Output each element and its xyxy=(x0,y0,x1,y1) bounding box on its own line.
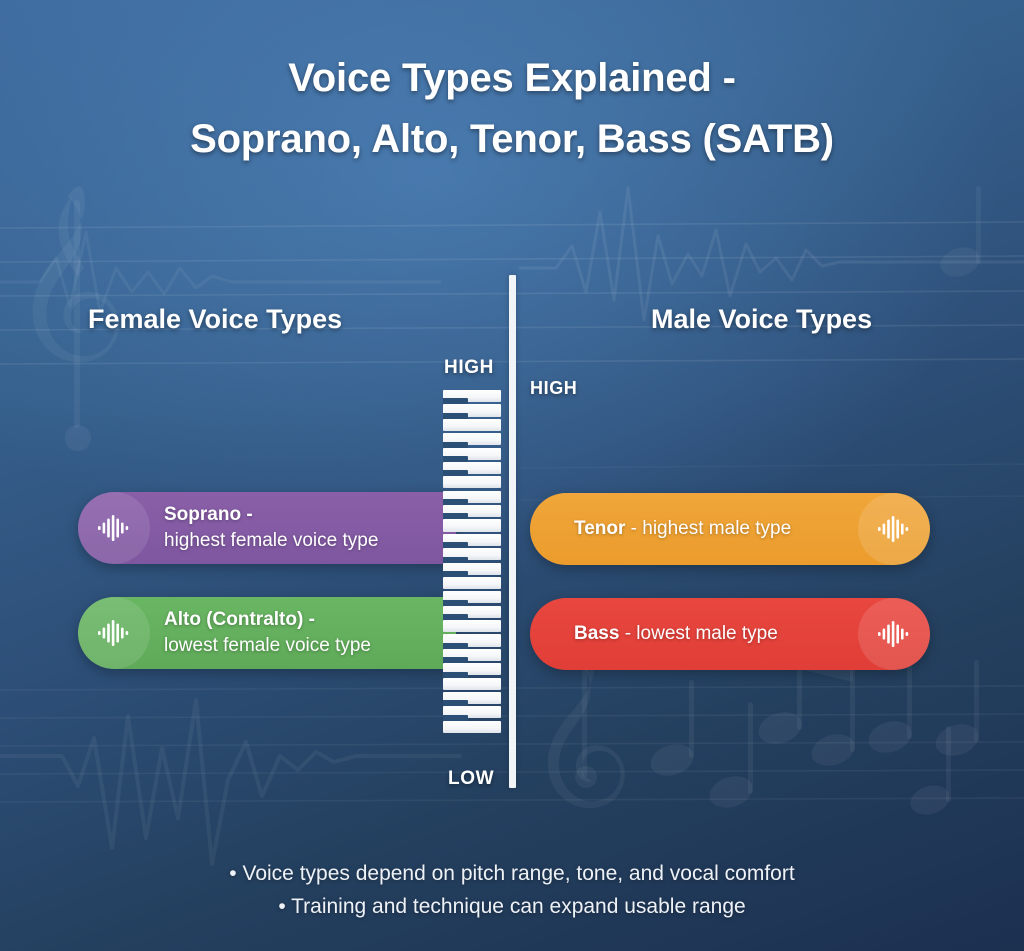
voice-description: lowest female voice type xyxy=(164,633,371,659)
piano-key xyxy=(443,577,501,589)
scale-high-label-right: HIGH xyxy=(530,378,577,399)
waveform-bottom-left xyxy=(0,700,460,864)
pitch-scale-keyboard xyxy=(443,390,501,762)
voice-name: Bass xyxy=(574,623,619,644)
piano-key xyxy=(443,620,501,632)
footer-notes: • Voice types depend on pitch range, ton… xyxy=(0,858,1024,923)
music-notes-bottom-right xyxy=(646,648,982,819)
piano-white-key xyxy=(443,678,501,690)
waveform-top xyxy=(520,188,1024,320)
voice-name: Soprano - xyxy=(164,504,253,525)
page-title: Voice Types Explained - Soprano, Alto, T… xyxy=(0,48,1024,170)
piano-white-key xyxy=(443,620,501,632)
music-notes-top-right xyxy=(937,186,984,281)
piano-key xyxy=(443,448,501,460)
voice-pill-text: Bass - lowest male type xyxy=(530,621,788,647)
piano-key xyxy=(443,404,501,416)
voice-pill-text: Tenor - highest male type xyxy=(530,516,801,542)
piano-key xyxy=(443,505,501,517)
piano-key xyxy=(443,606,501,618)
voice-pill-bass[interactable]: Bass - lowest male type xyxy=(530,598,930,670)
female-column-heading: Female Voice Types xyxy=(88,304,342,335)
piano-key xyxy=(443,678,501,690)
voice-pill-soprano[interactable]: Soprano - highest female voice type xyxy=(78,492,456,564)
piano-key xyxy=(443,519,501,531)
piano-key xyxy=(443,462,501,474)
piano-white-key xyxy=(443,476,501,488)
voice-description: highest female voice type xyxy=(164,528,378,554)
voice-description: - highest male type xyxy=(631,518,792,539)
voice-pill-tenor[interactable]: Tenor - highest male type xyxy=(530,493,930,565)
title-line-1: Voice Types Explained - xyxy=(0,48,1024,109)
piano-key xyxy=(443,548,501,560)
infographic-canvas: Voice Types Explained - Soprano, Alto, T… xyxy=(0,0,1024,951)
waveform-top-secondary xyxy=(0,232,440,312)
waveform-icon xyxy=(858,493,930,565)
piano-key xyxy=(443,563,501,575)
piano-key xyxy=(443,491,501,503)
piano-key xyxy=(443,433,501,445)
piano-key xyxy=(443,663,501,675)
piano-white-key xyxy=(443,577,501,589)
piano-key xyxy=(443,476,501,488)
scale-low-label-left: LOW xyxy=(448,768,494,790)
piano-white-key xyxy=(443,721,501,733)
footer-note-2: • Training and technique can expand usab… xyxy=(0,891,1024,924)
piano-white-key xyxy=(443,519,501,531)
footer-note-1: • Voice types depend on pitch range, ton… xyxy=(0,858,1024,891)
piano-key xyxy=(443,419,501,431)
title-line-2: Soprano, Alto, Tenor, Bass (SATB) xyxy=(0,109,1024,170)
scale-high-label-left: HIGH xyxy=(444,357,494,379)
piano-key xyxy=(443,706,501,718)
voice-pill-text: Alto (Contralto) - lowest female voice t… xyxy=(150,607,381,659)
voice-pill-text: Soprano - highest female voice type xyxy=(150,502,388,554)
male-column-heading: Male Voice Types xyxy=(651,304,872,335)
piano-key xyxy=(443,390,501,402)
voice-pill-alto[interactable]: Alto (Contralto) - lowest female voice t… xyxy=(78,597,456,669)
piano-white-key xyxy=(443,419,501,431)
waveform-icon xyxy=(78,492,150,564)
voice-description: - lowest male type xyxy=(625,623,778,644)
piano-key xyxy=(443,634,501,646)
piano-key xyxy=(443,692,501,704)
piano-key xyxy=(443,721,501,733)
voice-name: Alto (Contralto) - xyxy=(164,609,315,630)
waveform-icon xyxy=(858,598,930,670)
treble-clef-bottom-right xyxy=(548,652,625,808)
center-divider xyxy=(509,275,516,788)
piano-key xyxy=(443,649,501,661)
waveform-icon xyxy=(78,597,150,669)
voice-name: Tenor xyxy=(574,518,625,539)
piano-key xyxy=(443,534,501,546)
piano-key xyxy=(443,591,501,603)
